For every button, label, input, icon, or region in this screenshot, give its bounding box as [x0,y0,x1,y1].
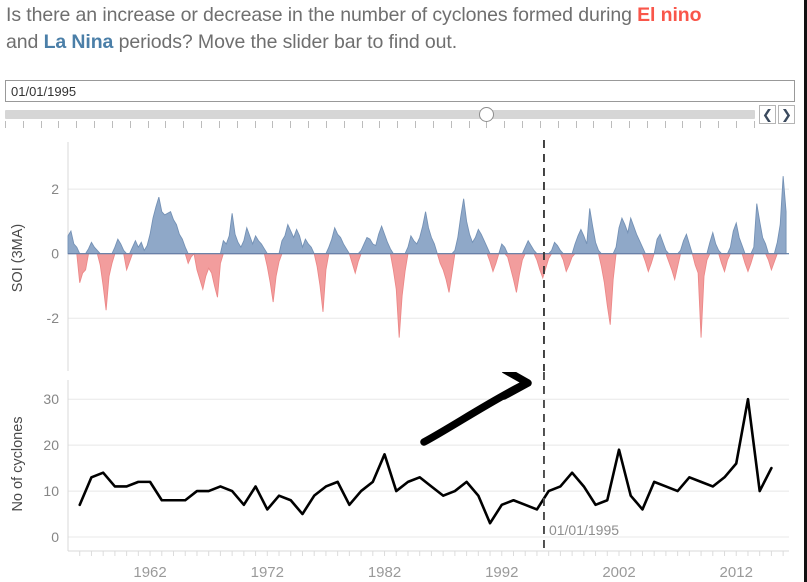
slider-handle[interactable] [479,107,494,122]
slider-tick [469,121,470,128]
cyclone-xtick-label: 1982 [368,564,401,581]
headline-segment-2: and [6,31,44,53]
cyclone-ytick-label: 0 [51,529,59,545]
reference-line-label: 01/01/1995 [549,522,619,538]
slider-tick [165,121,166,128]
slider-tick-marks [5,121,755,129]
soi-ytick-label: 2 [51,181,59,197]
slider-tick [700,121,701,128]
slider-tick [629,121,630,128]
page-title: Is there an increase or decrease in the … [6,2,786,56]
soi-ytick-label: 0 [51,246,59,262]
slider-tick [23,121,24,128]
slider-tick [433,121,434,128]
slider-tick [219,121,220,128]
cyclone-xtick-label: 2002 [602,564,635,581]
cyclone-xtick-label: 1972 [251,564,284,581]
slider-tick [326,121,327,128]
date-slider-filter: 01/01/1995 ❮ ❯ [5,80,795,132]
slider-tick [593,121,594,128]
slider-tick [76,121,77,128]
slider-tick [58,121,59,128]
la-nina-term: La Nina [44,31,114,53]
slider-tick [754,121,755,128]
slider-tick [611,121,612,128]
slider-tick [344,121,345,128]
slider-tick [183,121,184,128]
slider-tick [379,121,380,128]
dashboard-root: Is there an increase or decrease in the … [0,0,807,582]
cyclone-axis-title: No of cyclones [10,416,26,511]
slider-tick [94,121,95,128]
slider-tick [522,121,523,128]
cyclone-xtick-label: 1992 [485,564,518,581]
slider-tick [486,121,487,128]
slider-tick [540,121,541,128]
slider-tick [647,121,648,128]
slider-tick [5,121,6,128]
arrow-head [504,372,528,396]
soi-negative-area [68,254,786,338]
slider-tick [415,121,416,128]
slider-tick [290,121,291,128]
slider-tick [41,121,42,128]
slider-nav-buttons: ❮ ❯ [759,105,795,124]
cyclone-series-line [80,399,772,523]
slider-tick [576,121,577,128]
slider-tick [451,121,452,128]
slider-tick [736,121,737,128]
slider-tick [148,121,149,128]
slider-row: ❮ ❯ [5,108,795,132]
slider-track[interactable] [5,110,755,119]
slider-value-display[interactable]: 01/01/1995 [5,80,795,102]
slider-tick [237,121,238,128]
slider-tick [558,121,559,128]
cyclone-xtick-label: 1962 [133,564,166,581]
slider-tick [682,121,683,128]
headline-segment-1: Is there an increase or decrease in the … [6,4,637,26]
soi-ytick-label: -2 [47,310,60,326]
slider-tick [397,121,398,128]
slider-next-button[interactable]: ❯ [778,105,795,124]
trend-arrow-annotation [424,372,528,442]
soi-area-chart: 20-2SOI (3MA) [0,132,807,372]
el-nino-term: El nino [637,4,701,26]
headline-segment-3: periods? Move the slider bar to find out… [113,31,457,53]
cyclone-ytick-label: 30 [43,391,59,407]
slider-tick [308,121,309,128]
cyclone-ytick-label: 20 [43,437,59,453]
slider-tick [665,121,666,128]
cyclone-ytick-label: 10 [43,483,59,499]
slider-tick [130,121,131,128]
slider-tick [112,121,113,128]
slider-tick [255,121,256,128]
cyclone-line-chart: 010203001/01/199519621972198219922002201… [0,372,807,582]
slider-tick [201,121,202,128]
slider-tick [718,121,719,128]
soi-axis-title: SOI (3MA) [10,224,26,292]
slider-tick [362,121,363,128]
slider-tick [504,121,505,128]
cyclone-xtick-label: 2012 [720,564,753,581]
slider-prev-button[interactable]: ❮ [759,105,776,124]
soi-positive-area [68,176,786,254]
slider-tick [272,121,273,128]
